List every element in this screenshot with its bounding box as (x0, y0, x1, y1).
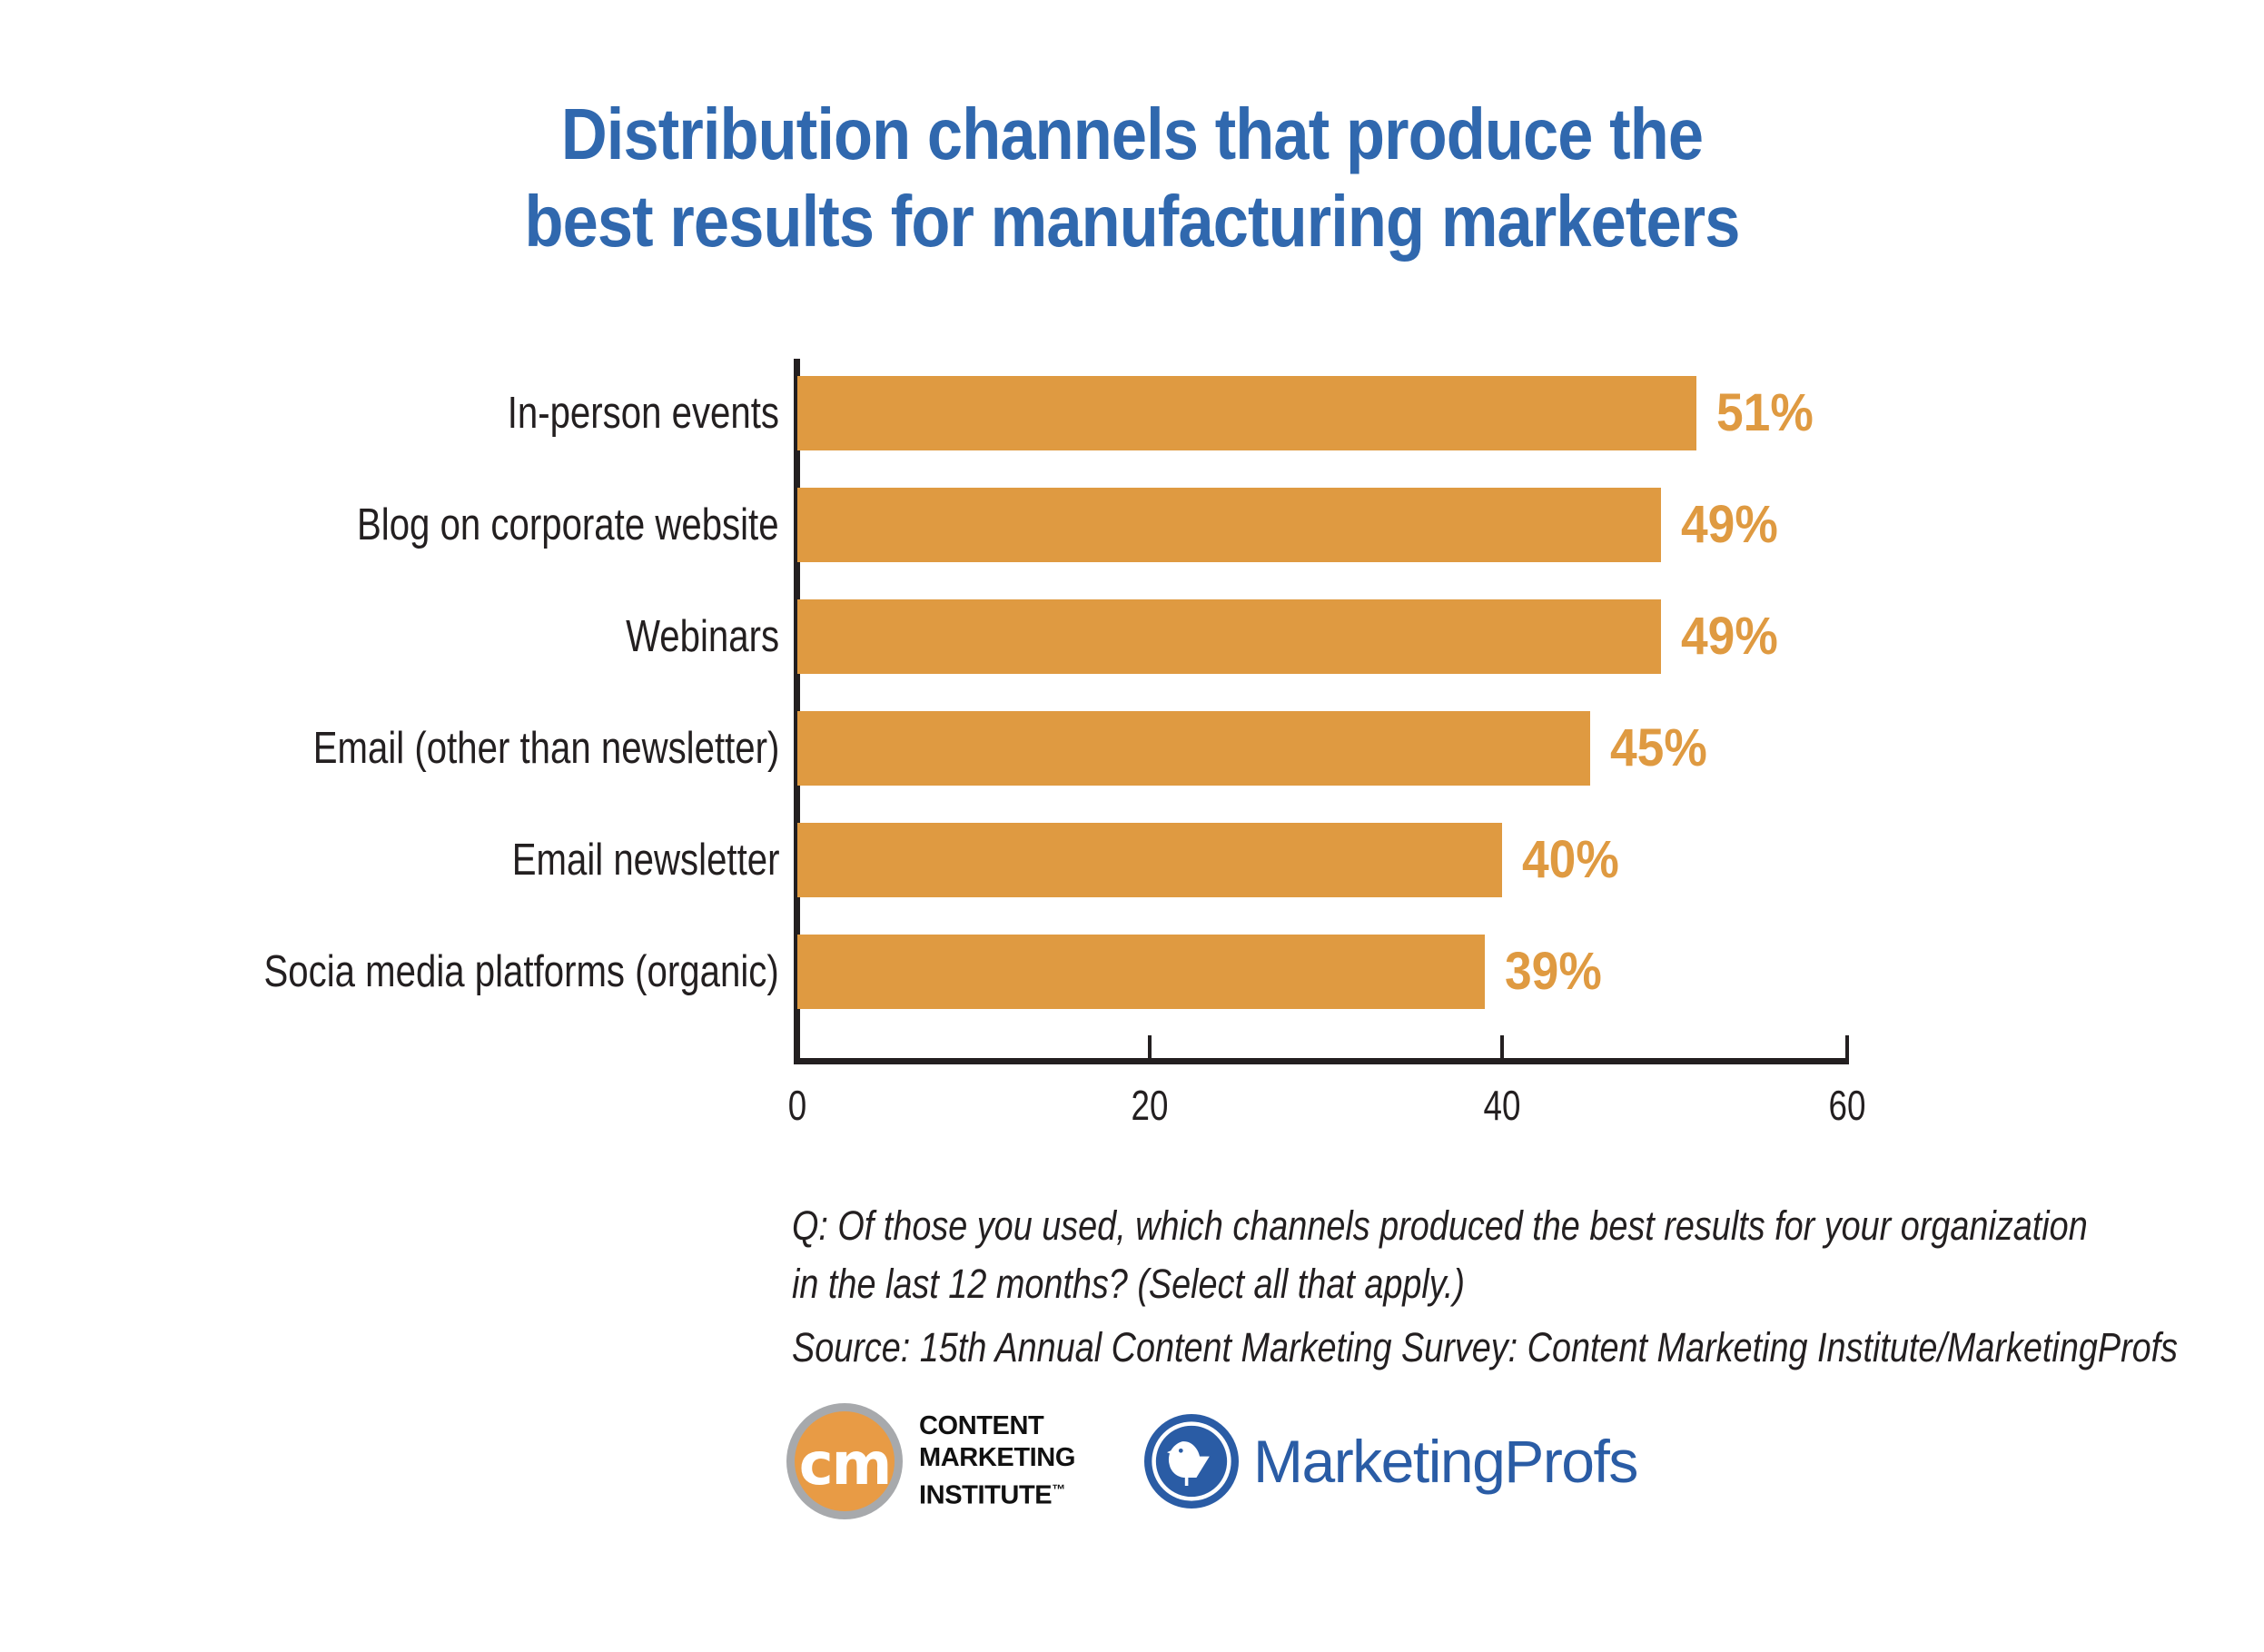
bar-row: Blog on corporate website 49% (0, 488, 2264, 562)
content-marketing-institute-logo: cm CONTENT MARKETING INSTITUTE™ (786, 1403, 1075, 1519)
bar-value-label: 49% (1681, 603, 1778, 670)
cmi-wordmark: CONTENT MARKETING INSTITUTE™ (919, 1410, 1075, 1512)
bar-value-label: 51% (1716, 380, 1814, 447)
category-label: In-person events (508, 383, 779, 443)
bar-segment (797, 935, 1485, 1009)
bar-segment (797, 823, 1502, 897)
bar-row: Socia media platforms (organic) 39% (0, 935, 2264, 1009)
footnote-question-line-2: in the last 12 months? (Select all that … (792, 1255, 1982, 1313)
cmi-word-marketing: MARKETING (919, 1442, 1075, 1474)
bar-row: Webinars 49% (0, 599, 2264, 674)
category-label: Blog on corporate website (357, 495, 779, 555)
footnote: Q: Of those you used, which channels pro… (792, 1197, 2209, 1377)
x-axis-line (794, 1058, 1849, 1064)
category-label: Webinars (626, 607, 779, 667)
trademark-icon: ™ (1052, 1482, 1065, 1498)
x-tick-label-40: 40 (1458, 1081, 1546, 1130)
x-tick-label-60: 60 (1804, 1081, 1891, 1130)
bar-row: In-person events 51% (0, 376, 2264, 450)
cmi-word-institute: INSTITUTE (919, 1481, 1052, 1510)
category-label: Email (other than newsletter) (312, 718, 779, 778)
cmi-word-content: CONTENT (919, 1410, 1075, 1442)
bar-value-label: 40% (1522, 826, 1619, 894)
category-label: Email newsletter (511, 830, 779, 890)
x-tick-20 (1148, 1035, 1152, 1059)
marketingprofs-wordmark: MarketingProfs (1253, 1429, 1637, 1493)
footnote-question-line-1: Q: Of those you used, which channels pro… (792, 1197, 1982, 1255)
bar-segment (797, 488, 1661, 562)
x-tick-60 (1845, 1035, 1849, 1059)
bar-segment (797, 599, 1661, 674)
x-tick-label-0: 0 (754, 1081, 841, 1130)
category-label: Socia media platforms (organic) (264, 942, 779, 1002)
bar-row: Email newsletter 40% (0, 823, 2264, 897)
bar-value-label: 49% (1681, 491, 1778, 559)
x-tick-0 (796, 1035, 799, 1059)
footnote-source: Source: 15th Annual Content Marketing Su… (792, 1319, 1982, 1377)
cmi-monogram: cm (799, 1436, 891, 1494)
bar-value-label: 45% (1610, 715, 1707, 782)
logo-row: cm CONTENT MARKETING INSTITUTE™ Marketin… (786, 1403, 1637, 1519)
bar-segment (797, 376, 1696, 450)
x-tick-label-20: 20 (1106, 1081, 1193, 1130)
bar-value-label: 39% (1505, 938, 1602, 1005)
bar-row: Email (other than newsletter) 45% (0, 711, 2264, 786)
x-tick-40 (1500, 1035, 1504, 1059)
bar-segment (797, 711, 1590, 786)
cmi-circle-icon: cm (786, 1403, 903, 1519)
marketingprofs-logo: MarketingProfs (1144, 1414, 1637, 1509)
cmi-word-institute-row: INSTITUTE™ (919, 1474, 1075, 1512)
marketingprofs-bird-icon (1144, 1414, 1239, 1509)
